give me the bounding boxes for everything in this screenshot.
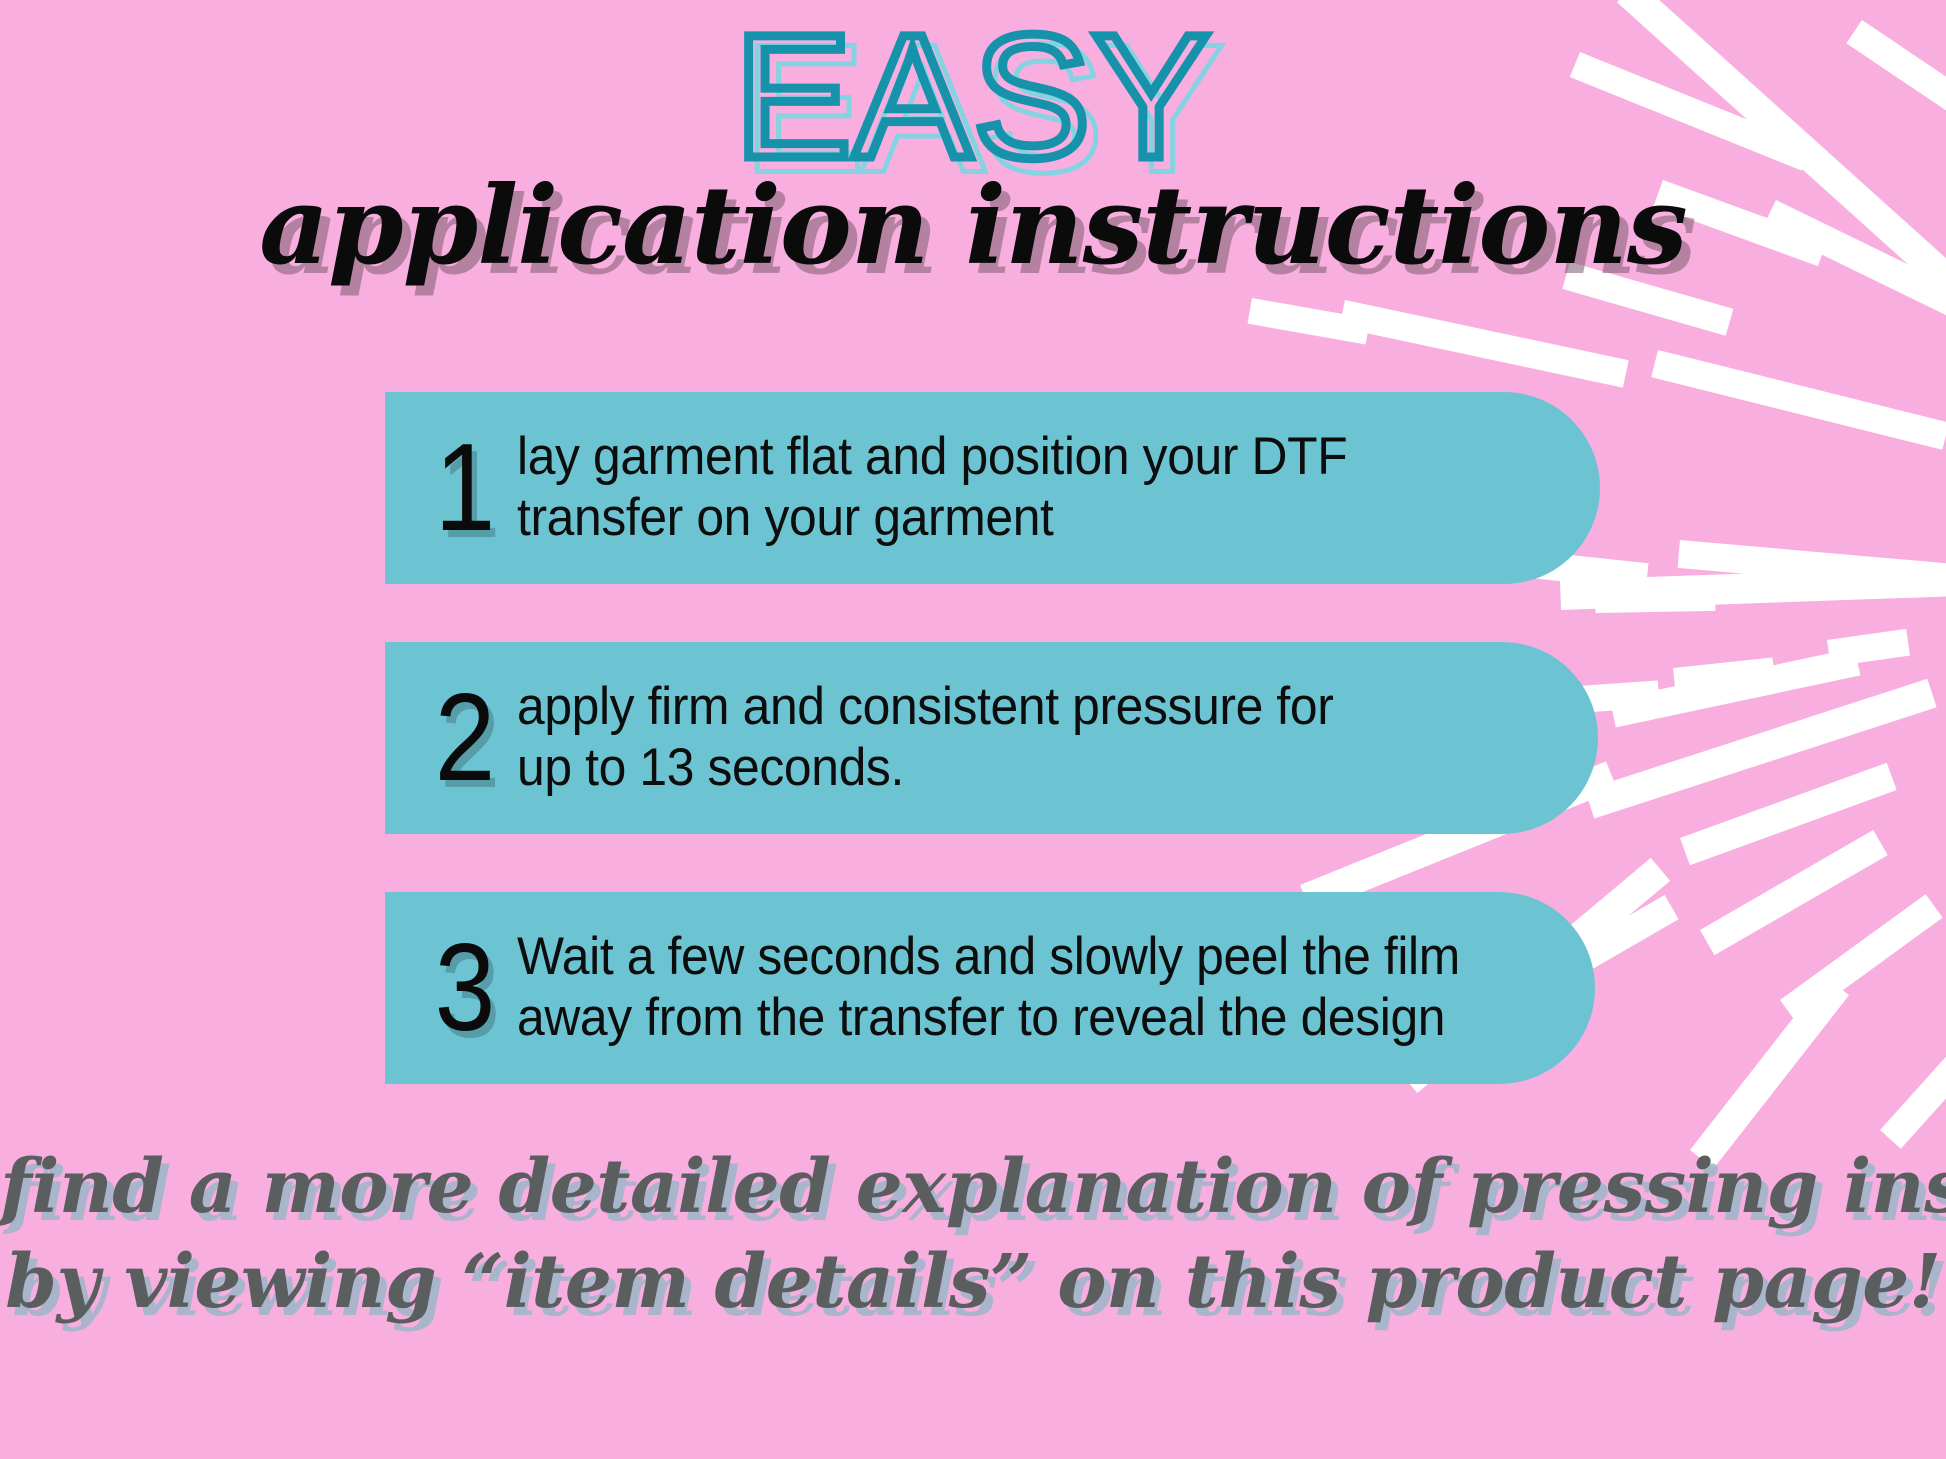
step-number-3: 3 <box>419 926 511 1050</box>
step-text-3-line-1: Wait a few seconds and slowly peel the f… <box>517 927 1493 988</box>
step-pill-2: 2 apply firm and consistent pressure for… <box>385 642 1598 834</box>
easy-front-outline: EASY <box>734 0 1212 195</box>
step-text-1: lay garment flat and position your DTF t… <box>517 427 1535 549</box>
step-text-1-line-1: lay garment flat and position your DTF <box>517 427 1497 488</box>
poster-canvas: EASY EASY EASY application instructions … <box>0 0 1946 1459</box>
step-text-2-line-1: apply firm and consistent pressure for <box>517 677 1496 738</box>
step-text-2-line-2: up to 13 seconds. <box>517 738 1496 799</box>
step-pill-3: 3 Wait a few seconds and slowly peel the… <box>385 892 1595 1084</box>
step-text-1-line-2: transfer on your garment <box>517 488 1497 549</box>
footer-note: find a more detailed explanation of pres… <box>0 1140 1946 1329</box>
step-text-3: Wait a few seconds and slowly peel the f… <box>517 927 1530 1049</box>
step-text-2: apply firm and consistent pressure for u… <box>517 677 1533 799</box>
footer-line-1: find a more detailed explanation of pres… <box>0 1140 1946 1235</box>
step-text-3-line-2: away from the transfer to reveal the des… <box>517 988 1493 1049</box>
headline-easy: EASY EASY EASY <box>0 8 1946 188</box>
step-pill-1: 1 lay garment flat and position your DTF… <box>385 392 1600 584</box>
easy-layer-stack: EASY EASY EASY <box>734 8 1212 188</box>
step-number-2: 2 <box>419 676 511 800</box>
step-number-1: 1 <box>419 426 511 550</box>
footer-line-2: by viewing “item details” on this produc… <box>0 1235 1946 1330</box>
